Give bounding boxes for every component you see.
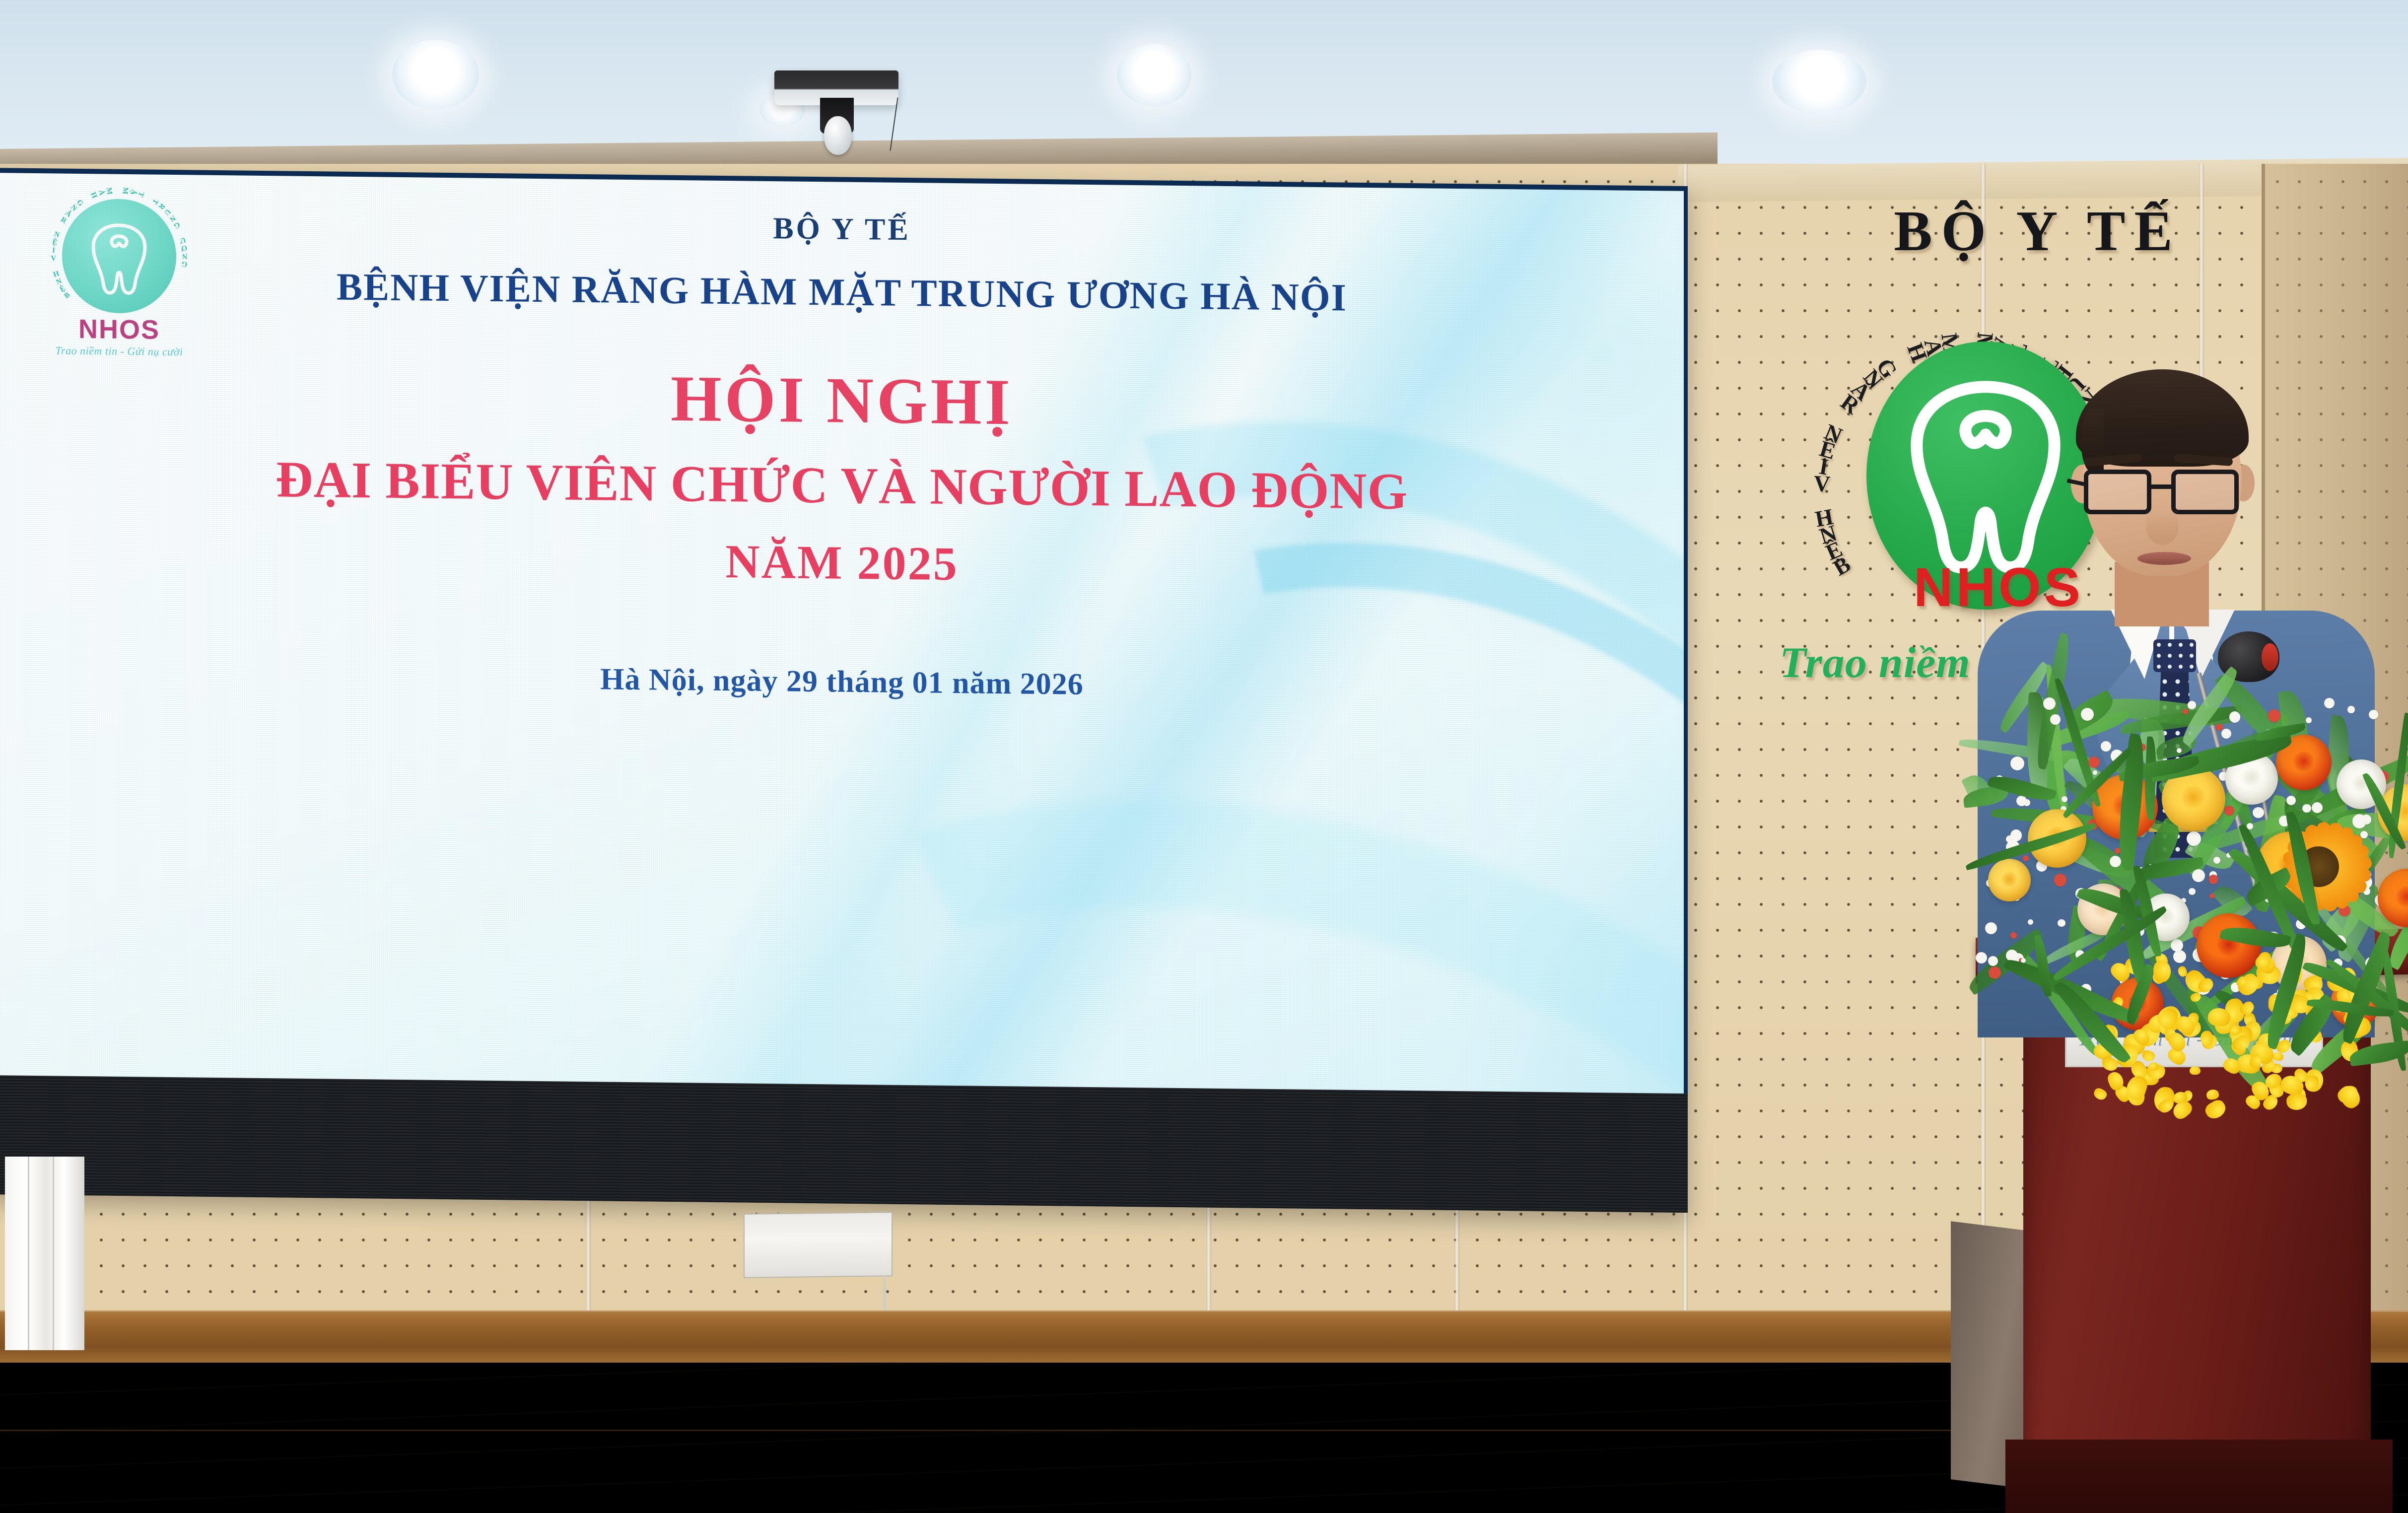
bouquet-filler — [2209, 894, 2214, 898]
bouquet-filler — [2062, 796, 2067, 802]
ceiling-projector-icon — [774, 70, 898, 105]
bouquet-filler — [2213, 857, 2220, 864]
led-screen-frame: BỆNH VIỆN RĂNG HÀM MẶT TRUNG ƯƠNG NHOS T… — [0, 168, 1688, 1213]
bouquet-filler — [2209, 875, 2218, 884]
slide-hospital-line: BỆNH VIỆN RĂNG HÀM MẶT TRUNG ƯƠNG HÀ NỘI — [0, 261, 1684, 324]
bouquet-filler — [2221, 729, 2231, 739]
bouquet-filler — [2054, 874, 2067, 887]
bouquet-filler — [2253, 807, 2264, 818]
bouquet-filler — [2216, 724, 2223, 731]
bouquet-filler — [2010, 756, 2024, 770]
bouquet-filler — [1985, 922, 1997, 934]
led-screen-bezel — [0, 1075, 1688, 1213]
bouquet-filler — [2010, 829, 2022, 841]
bouquet-filler — [2101, 741, 2111, 752]
wall-ministry-sign: BỘ Y TẾ — [1814, 199, 2261, 265]
wall-pillar — [5, 1157, 84, 1350]
ceiling-downlight-icon — [1772, 50, 1866, 113]
ceiling — [0, 0, 2408, 184]
bouquet-orchid — [2190, 1066, 2201, 1075]
bouquet-orchid — [2148, 1062, 2159, 1071]
wall-panel-seam — [586, 1191, 591, 1315]
bouquet-flower-center — [2002, 872, 2017, 887]
bouquet-filler — [2081, 708, 2094, 721]
bouquet-orchid — [2336, 1082, 2364, 1111]
bouquet-orchid — [2141, 1049, 2156, 1063]
bouquet-filler — [2268, 709, 2280, 722]
bouquet-filler — [2177, 748, 2182, 753]
ceiling-downlight-icon — [1117, 44, 1191, 106]
bouquet-filler — [2058, 919, 2065, 927]
bouquet-filler — [2188, 701, 2196, 709]
wall-vent-rod — [884, 1276, 886, 1314]
hair — [2076, 369, 2249, 467]
eyeglasses-icon — [2081, 470, 2245, 515]
floor-seam — [0, 1430, 2264, 1431]
ceiling-downlight-icon — [392, 40, 479, 109]
wall-panel-seam — [1206, 1201, 1211, 1320]
slide-title-line-1: HỘI NGHỊ — [0, 353, 1684, 447]
bouquet-filler — [2010, 932, 2017, 939]
wall-vent-panel — [744, 1212, 893, 1278]
mouth — [2137, 552, 2191, 565]
podium-base — [2005, 1440, 2393, 1513]
bouquet-filler — [2189, 888, 2196, 895]
bouquet-filler — [2183, 709, 2188, 714]
bouquet-filler — [2023, 855, 2029, 861]
bouquet-orchid — [2206, 1089, 2220, 1100]
bouquet-flower-center — [2242, 768, 2261, 787]
bouquet-orchid — [2272, 1052, 2283, 1061]
slide-title-line-2: ĐẠI BIỂU VIÊN CHỨC VÀ NGƯỜI LAO ĐỘNG — [0, 447, 1684, 524]
slide-title-line-3: NĂM 2025 — [0, 526, 1684, 599]
bouquet-filler — [2187, 831, 2201, 846]
bouquet-filler — [2347, 706, 2355, 713]
slide-date-line: Hà Nội, ngày 29 tháng 01 năm 2026 — [0, 655, 1684, 709]
bouquet-filler — [2286, 796, 2296, 805]
bouquet-filler — [2088, 756, 2100, 768]
bouquet-filler — [2192, 869, 2205, 882]
bouquet-filler — [2369, 710, 2378, 719]
bouquet-filler — [2028, 919, 2034, 925]
bouquet-filler — [2229, 711, 2241, 723]
bouquet-orchid — [2258, 952, 2271, 968]
bouquet-flower-center — [2294, 752, 2314, 771]
bouquet-filler — [2312, 802, 2323, 813]
slide-text-block: BỘ Y TẾ BỆNH VIỆN RĂNG HÀM MẶT TRUNG ƯƠN… — [0, 203, 1684, 709]
slide-ministry-line: BỘ Y TẾ — [0, 203, 1684, 256]
wall-panel-seam — [1454, 1206, 1459, 1320]
presentation-slide[interactable]: BỆNH VIỆN RĂNG HÀM MẶT TRUNG ƯƠNG NHOS T… — [0, 173, 1684, 1095]
bouquet-filler — [2324, 698, 2335, 708]
bouquet-filler — [2173, 950, 2186, 963]
bouquet-filler — [2306, 717, 2312, 723]
bouquet-orchid — [2200, 1030, 2214, 1047]
nose — [2146, 510, 2178, 545]
conference-hall-scene: BỘ Y TẾ BỆNH VIỆN RĂNG HÀM MẶT TRUNG ƯƠN… — [0, 0, 2408, 1513]
bouquet-filler — [2043, 697, 2056, 710]
flower-bouquet — [1928, 660, 2408, 1107]
bouquet-filler — [2050, 714, 2060, 724]
bouquet-orchid — [2092, 1087, 2109, 1101]
bouquet-filler — [1989, 966, 2001, 979]
bouquet-filler — [2352, 814, 2367, 828]
wall-ministry-label: BỘ Y TẾ — [1814, 199, 2261, 265]
bouquet-filler — [1976, 952, 1987, 963]
